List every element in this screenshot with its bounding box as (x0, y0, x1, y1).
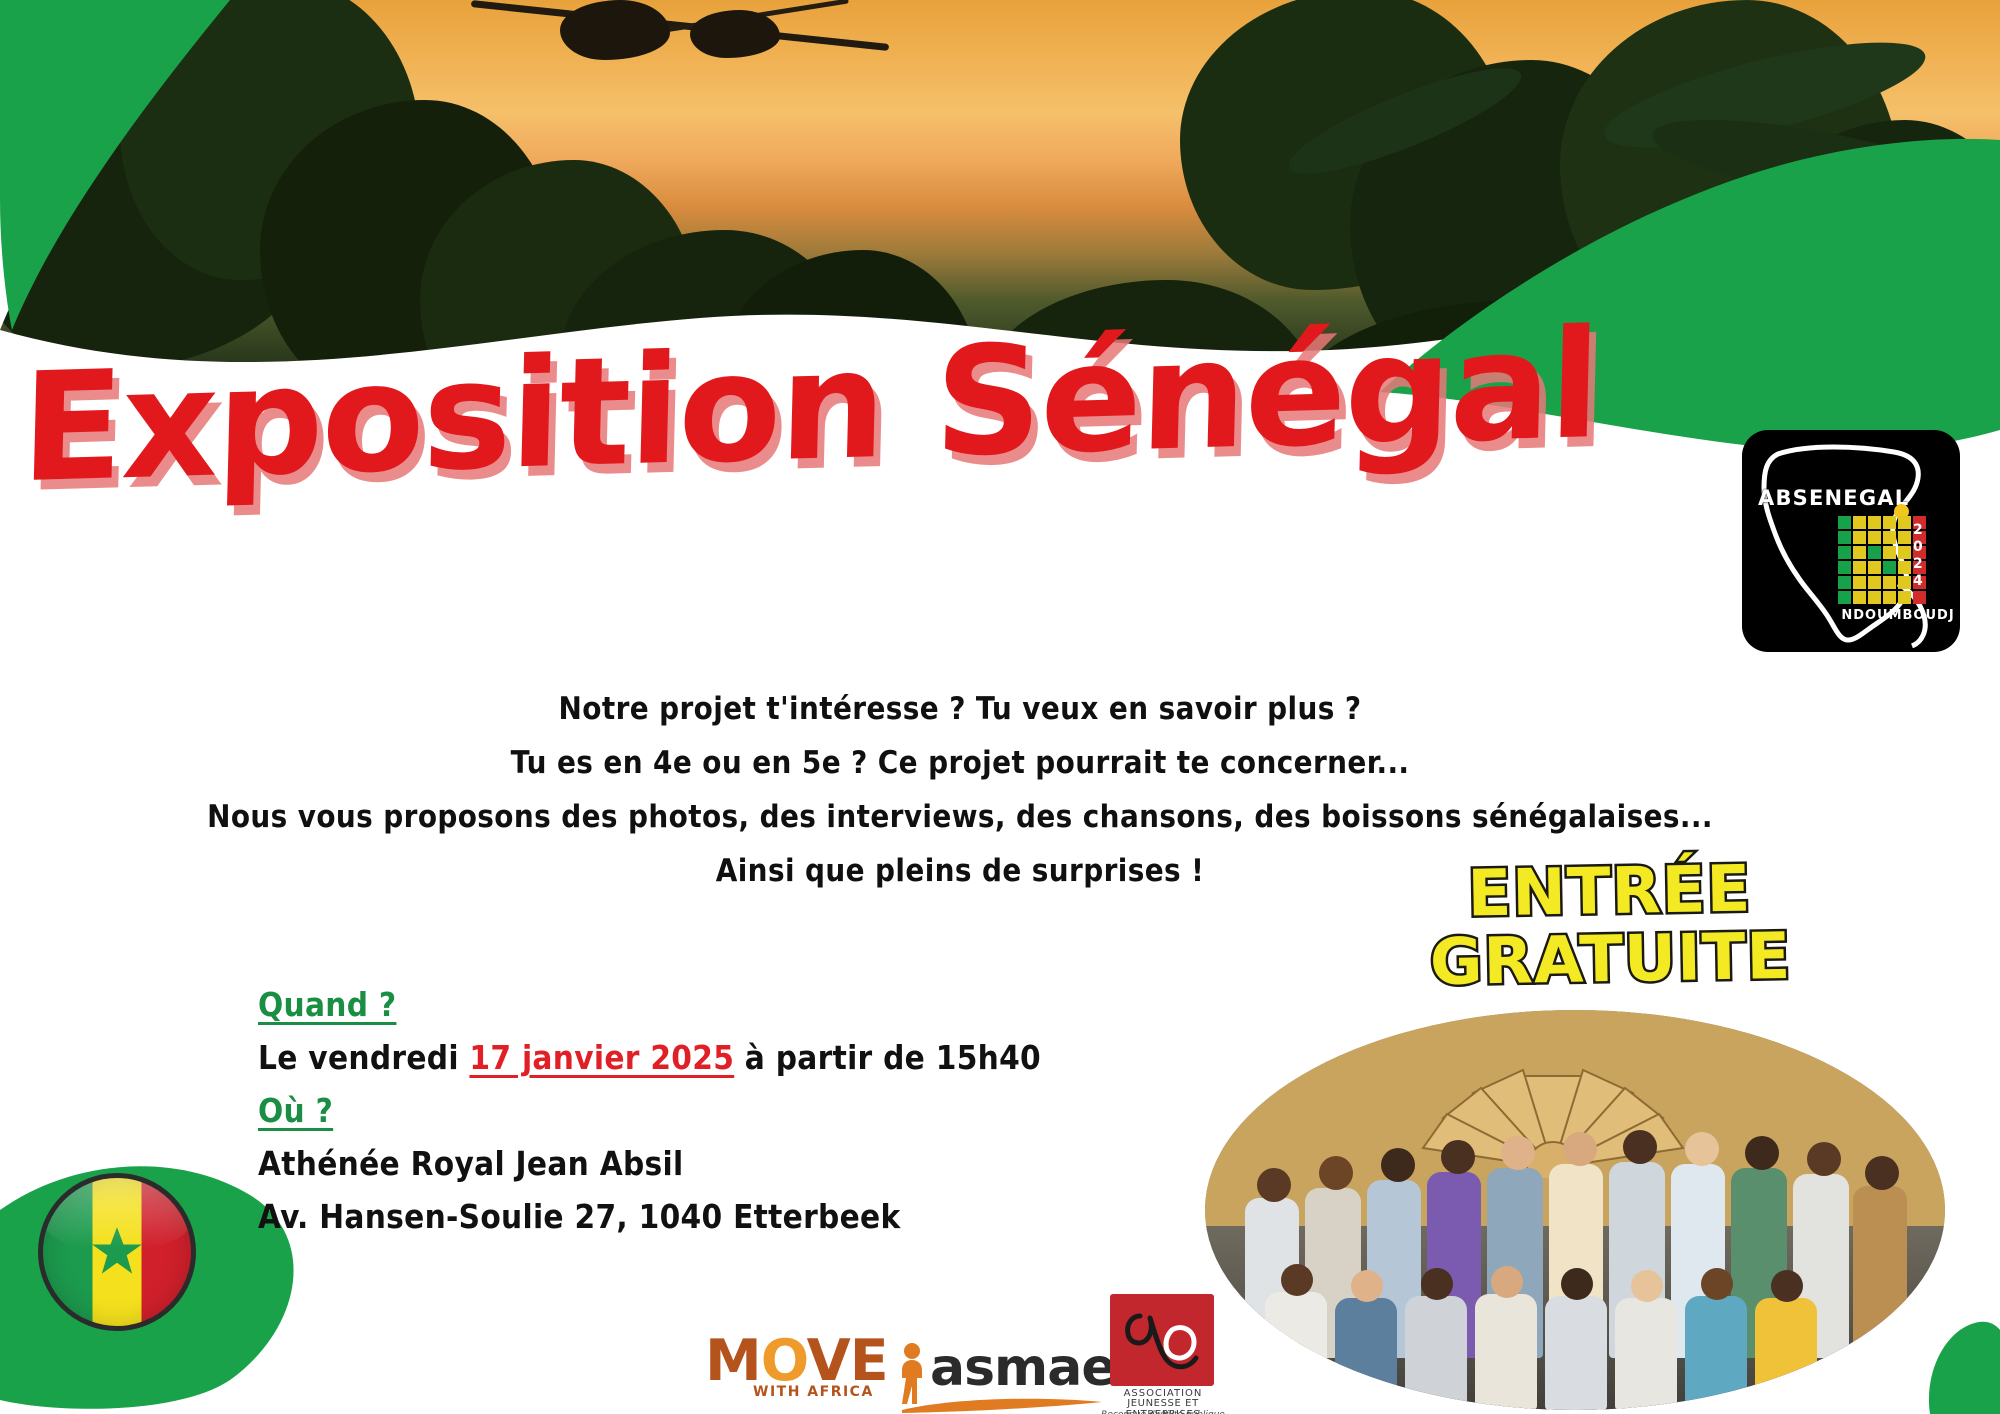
lead-line-3: Nous vous proposons des photos, des inte… (150, 790, 1770, 844)
when-label: Quand ? (258, 985, 396, 1024)
page-title: Exposition Sénégal (20, 310, 1601, 504)
free-entry-line-2: GRATUITE (1400, 922, 1821, 997)
aje-letters-icon (1110, 1294, 1214, 1386)
event-details: Quand ? Le vendredi 17 janvier 2025 à pa… (258, 978, 1041, 1243)
when-prefix: Le vendredi (258, 1038, 469, 1077)
aje-line-3: Reconnue d'utilité publique (1093, 1410, 1233, 1414)
asmae-swoosh-icon (902, 1396, 1102, 1414)
when-label-line: Quand ? (258, 978, 1041, 1031)
lead-line-2: Tu es en 4e ou en 5e ? Ce projet pourrai… (150, 736, 1770, 790)
flag-gloss (43, 1178, 191, 1249)
event-date: 17 janvier 2025 (469, 1038, 734, 1077)
where-label: Où ? (258, 1091, 333, 1130)
when-suffix: à partir de 15h40 (734, 1038, 1041, 1077)
absenegal-logo: ABSENEGAL (1742, 430, 1960, 652)
when-value-line: Le vendredi 17 janvier 2025 à partir de … (258, 1031, 1041, 1084)
where-label-line: Où ? (258, 1084, 1041, 1137)
free-entry-badge: ENTRÉE GRATUITE (1399, 854, 1821, 997)
absenegal-year: 2 0 2 4 (1913, 522, 1923, 590)
move-tagline: WITH AFRICA (753, 1384, 874, 1400)
poster-title-wrap: Exposition Sénégal (0, 332, 1620, 482)
venue-address: Av. Hansen-Soulie 27, 1040 Etterbeek (258, 1190, 1041, 1243)
lead-line-1: Notre projet t'intéresse ? Tu veux en sa… (150, 682, 1770, 736)
free-entry-line-1: ENTRÉE (1399, 854, 1820, 929)
partner-logos: MOVE WITH AFRICA asmae ASSOCIATION JEUNE… (690, 1292, 1250, 1414)
absenegal-name: ABSENEGAL (1758, 486, 1908, 510)
senegal-flag-icon (38, 1173, 196, 1331)
asmae-logo: asmae (930, 1338, 1116, 1398)
aje-logo-mark (1110, 1294, 1214, 1386)
absenegal-subtitle: NDOUMBOUDJ (1838, 608, 1958, 623)
group-photo (1205, 1010, 1945, 1410)
poster-root: Exposition Sénégal ABSENEGAL (0, 0, 2000, 1414)
venue-name: Athénée Royal Jean Absil (258, 1137, 1041, 1190)
